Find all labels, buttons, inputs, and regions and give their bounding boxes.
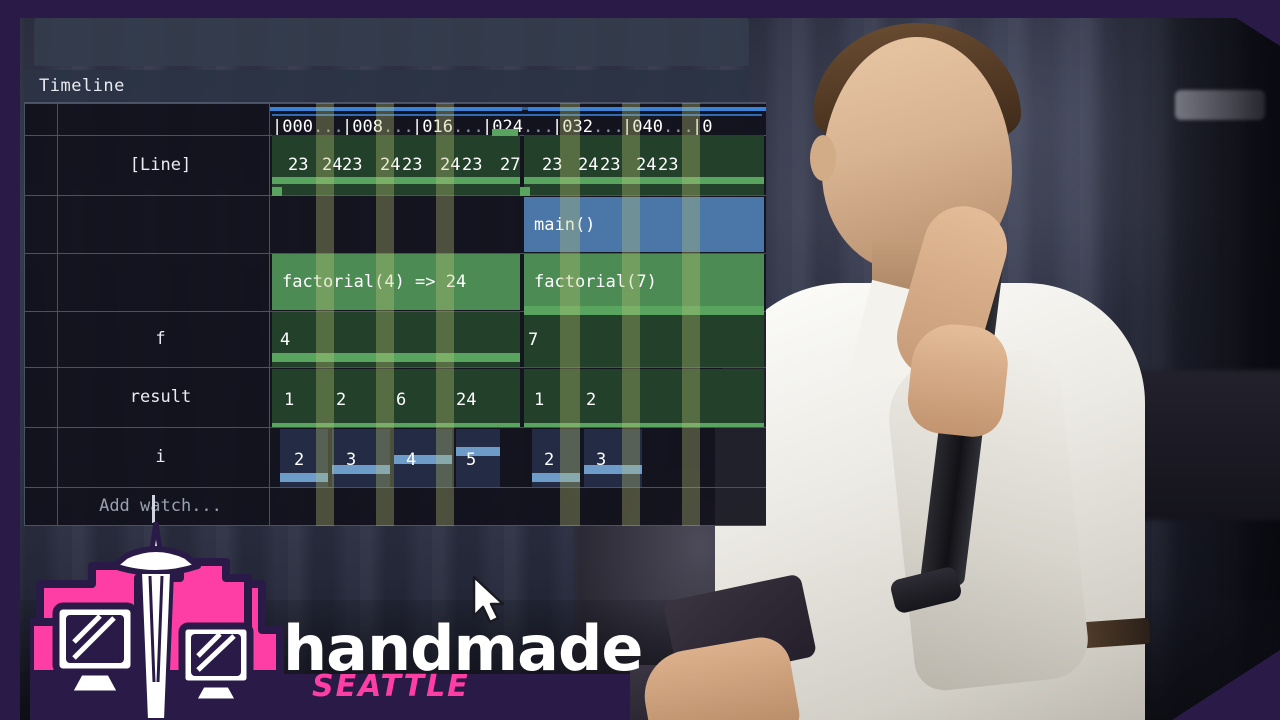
callstack-block-main[interactable]: main()	[524, 197, 764, 252]
i-value: 2	[294, 445, 304, 475]
f-track-bar	[524, 306, 764, 315]
row-label-i: i	[58, 427, 263, 487]
line-value: 23	[402, 149, 422, 181]
ruler-tick-016: |016...	[412, 117, 484, 137]
i-track-bar	[394, 455, 452, 464]
f-value: 7	[528, 325, 538, 355]
line-value: 24	[322, 149, 342, 181]
result-track-bar	[524, 423, 764, 427]
grid-vline	[24, 103, 25, 526]
i-track-block[interactable]	[456, 429, 500, 487]
result-value: 1	[284, 385, 294, 415]
logo-subtitle: SEATTLE	[312, 669, 470, 704]
line-value: 23	[600, 149, 620, 181]
i-track-block[interactable]	[584, 429, 642, 487]
callstack-block-factorial4[interactable]: factorial(4) => 24	[272, 254, 520, 310]
i-track-bar	[456, 447, 500, 456]
line-value: 23	[542, 149, 562, 181]
line-value: 23	[658, 149, 678, 181]
line-track-marker	[272, 187, 282, 196]
frame-top	[0, 0, 1280, 18]
line-track-marker	[520, 187, 530, 196]
f-track-bar	[272, 353, 520, 362]
row-label-result: result	[58, 367, 263, 427]
timeline-grid[interactable]: [Line] f result i Add watch... |000... |…	[24, 102, 766, 525]
handmade-seattle-logo: handmade SEATTLE	[30, 522, 630, 720]
result-value: 2	[336, 385, 346, 415]
ruler-tick-040: |040...	[622, 117, 694, 137]
debugger-window: Timeline [Line] f result i Add watch...	[24, 18, 766, 525]
line-value: 27	[500, 149, 520, 181]
line-value: 23	[342, 149, 362, 181]
i-track-bar	[332, 465, 390, 474]
callstack-label: factorial(7)	[534, 254, 657, 310]
i-value: 4	[406, 445, 416, 475]
i-value: 3	[346, 445, 356, 475]
i-value: 2	[544, 445, 554, 475]
ruler-tick-000: |000...	[272, 117, 344, 137]
i-track-block[interactable]	[332, 429, 390, 487]
speaker-ear	[810, 135, 836, 181]
screen: Timeline [Line] f result i Add watch...	[0, 0, 1280, 720]
callstack-block-factorial7[interactable]: factorial(7)	[524, 254, 764, 310]
watch-text-caret	[152, 495, 155, 523]
result-track-bar	[272, 423, 520, 427]
f-track-block[interactable]	[524, 312, 764, 367]
line-value: 24	[380, 149, 400, 181]
result-value: 2	[586, 385, 596, 415]
timeline-panel-title: Timeline	[24, 70, 749, 102]
toolbar-panel[interactable]	[34, 18, 749, 66]
callstack-label: factorial(4) => 24	[282, 254, 466, 310]
i-value: 5	[466, 445, 476, 475]
result-value: 1	[534, 385, 544, 415]
callstack-label: main()	[534, 197, 595, 252]
frame-left	[0, 0, 20, 720]
result-value: 24	[456, 385, 476, 415]
line-value: 23	[288, 149, 308, 181]
microphone-stand	[1175, 90, 1265, 120]
result-track-block[interactable]	[524, 369, 764, 426]
i-value: 3	[596, 445, 606, 475]
line-track-peak	[492, 129, 518, 136]
ruler-tick-048: |0	[692, 117, 713, 137]
i-track-bar	[532, 473, 580, 482]
line-value: 23	[462, 149, 482, 181]
ruler-tick-008: |008...	[342, 117, 414, 137]
line-value: 24	[440, 149, 460, 181]
row-label-f: f	[58, 311, 263, 367]
line-value: 24	[636, 149, 656, 181]
i-track-bar	[584, 465, 642, 474]
speaker-hand	[905, 320, 1012, 439]
speaker-hand-left	[637, 633, 802, 720]
line-value: 24	[578, 149, 598, 181]
timeline-tracks[interactable]: |000... |008... |016... |024... |032... …	[270, 103, 766, 526]
result-value: 6	[396, 385, 406, 415]
mouse-cursor-icon	[470, 575, 508, 631]
row-label-line: [Line]	[58, 135, 263, 195]
ruler-tick-032: |032...	[552, 117, 624, 137]
f-value: 4	[280, 325, 290, 355]
add-watch-input[interactable]: Add watch...	[58, 487, 263, 525]
